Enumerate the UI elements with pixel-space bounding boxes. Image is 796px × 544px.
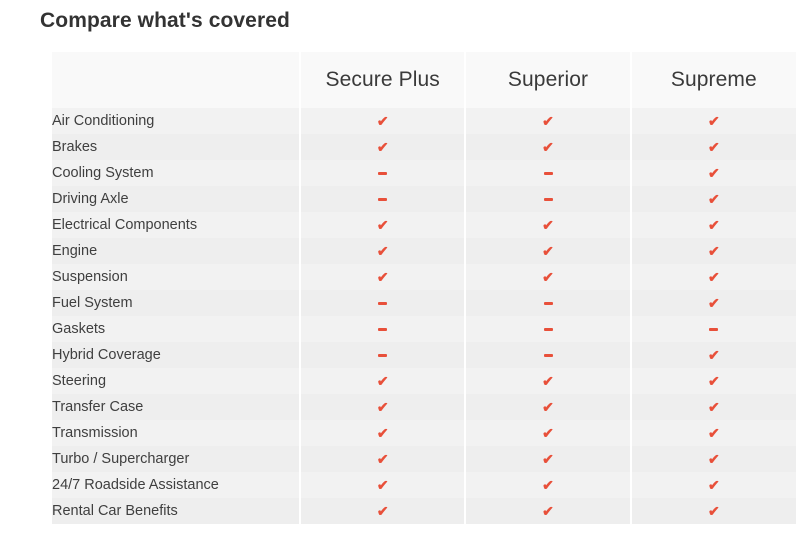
table-row: Transmission✔✔✔ [52,420,796,446]
check-icon: ✔ [708,114,720,128]
table-row: Turbo / Supercharger✔✔✔ [52,446,796,472]
check-icon: ✔ [542,452,554,466]
check-icon: ✔ [377,426,389,440]
feature-label: Suspension [52,264,300,290]
check-icon: ✔ [542,478,554,492]
check-icon: ✔ [377,504,389,518]
coverage-cell: ✔ [465,212,630,238]
dash-icon [378,172,387,175]
table-row: Hybrid Coverage✔ [52,342,796,368]
check-icon: ✔ [708,426,720,440]
coverage-cell: ✔ [465,108,630,134]
feature-label: Cooling System [52,160,300,186]
table-row: Transfer Case✔✔✔ [52,394,796,420]
coverage-cell [300,290,465,316]
feature-label: Hybrid Coverage [52,342,300,368]
coverage-cell: ✔ [631,368,796,394]
feature-label: Fuel System [52,290,300,316]
dash-icon [544,172,553,175]
coverage-cell: ✔ [631,134,796,160]
coverage-cell: ✔ [465,498,630,524]
check-icon: ✔ [377,374,389,388]
check-icon: ✔ [708,374,720,388]
check-icon: ✔ [377,452,389,466]
check-icon: ✔ [708,296,720,310]
coverage-cell: ✔ [631,160,796,186]
check-icon: ✔ [542,426,554,440]
table-header: Secure Plus Superior Supreme [52,52,796,108]
feature-label: Transfer Case [52,394,300,420]
check-icon: ✔ [708,140,720,154]
check-icon: ✔ [708,270,720,284]
check-icon: ✔ [542,244,554,258]
coverage-cell: ✔ [300,394,465,420]
coverage-cell: ✔ [300,238,465,264]
coverage-cell: ✔ [300,108,465,134]
check-icon: ✔ [542,270,554,284]
plan-header-secure-plus[interactable]: Secure Plus [300,52,465,108]
table-row: Rental Car Benefits✔✔✔ [52,498,796,524]
check-icon: ✔ [377,114,389,128]
coverage-cell: ✔ [631,394,796,420]
table-row: Air Conditioning✔✔✔ [52,108,796,134]
dash-icon [544,302,553,305]
table-row: Driving Axle✔ [52,186,796,212]
coverage-cell: ✔ [300,368,465,394]
coverage-cell: ✔ [300,446,465,472]
table-row: Cooling System✔ [52,160,796,186]
check-icon: ✔ [542,140,554,154]
coverage-cell: ✔ [300,420,465,446]
coverage-cell: ✔ [465,446,630,472]
feature-label: Brakes [52,134,300,160]
plan-header-superior[interactable]: Superior [465,52,630,108]
feature-label: 24/7 Roadside Assistance [52,472,300,498]
coverage-cell: ✔ [465,264,630,290]
coverage-cell [631,316,796,342]
coverage-comparison-table: Secure Plus Superior Supreme Air Conditi… [52,52,796,524]
compare-coverage-page: Compare what's covered Secure Plus Super… [0,0,796,544]
coverage-cell: ✔ [631,212,796,238]
table-body: Air Conditioning✔✔✔Brakes✔✔✔Cooling Syst… [52,108,796,524]
feature-label: Air Conditioning [52,108,300,134]
coverage-cell: ✔ [465,368,630,394]
coverage-cell: ✔ [300,472,465,498]
coverage-cell: ✔ [465,238,630,264]
check-icon: ✔ [708,504,720,518]
check-icon: ✔ [542,374,554,388]
coverage-cell [465,160,630,186]
coverage-cell: ✔ [631,238,796,264]
coverage-cell: ✔ [631,290,796,316]
dash-icon [544,198,553,201]
feature-label: Gaskets [52,316,300,342]
coverage-cell [465,342,630,368]
table-row: Engine✔✔✔ [52,238,796,264]
dash-icon [378,328,387,331]
coverage-cell: ✔ [631,446,796,472]
feature-label: Turbo / Supercharger [52,446,300,472]
check-icon: ✔ [542,504,554,518]
coverage-cell [300,342,465,368]
coverage-cell [300,160,465,186]
feature-label: Transmission [52,420,300,446]
coverage-cell: ✔ [465,394,630,420]
coverage-cell: ✔ [631,108,796,134]
coverage-cell: ✔ [300,134,465,160]
coverage-cell: ✔ [300,498,465,524]
table-row: Brakes✔✔✔ [52,134,796,160]
table-row: 24/7 Roadside Assistance✔✔✔ [52,472,796,498]
coverage-cell: ✔ [465,420,630,446]
check-icon: ✔ [377,218,389,232]
coverage-cell: ✔ [631,342,796,368]
check-icon: ✔ [708,244,720,258]
dash-icon [378,198,387,201]
table-row: Steering✔✔✔ [52,368,796,394]
coverage-cell [465,316,630,342]
check-icon: ✔ [377,478,389,492]
coverage-cell: ✔ [300,264,465,290]
check-icon: ✔ [542,218,554,232]
check-icon: ✔ [377,270,389,284]
check-icon: ✔ [542,114,554,128]
check-icon: ✔ [708,192,720,206]
coverage-cell [465,186,630,212]
check-icon: ✔ [708,348,720,362]
feature-label: Rental Car Benefits [52,498,300,524]
header-row: Secure Plus Superior Supreme [52,52,796,108]
feature-label: Steering [52,368,300,394]
coverage-cell [465,290,630,316]
check-icon: ✔ [708,478,720,492]
check-icon: ✔ [377,244,389,258]
table-row: Gaskets [52,316,796,342]
table-row: Suspension✔✔✔ [52,264,796,290]
dash-icon [709,328,718,331]
coverage-cell: ✔ [631,186,796,212]
table-row: Electrical Components✔✔✔ [52,212,796,238]
coverage-cell: ✔ [465,134,630,160]
compare-table-container: Secure Plus Superior Supreme Air Conditi… [52,52,796,524]
coverage-cell: ✔ [631,472,796,498]
check-icon: ✔ [377,140,389,154]
check-icon: ✔ [542,400,554,414]
dash-icon [378,354,387,357]
coverage-cell [300,316,465,342]
coverage-cell: ✔ [300,212,465,238]
plan-header-supreme[interactable]: Supreme [631,52,796,108]
check-icon: ✔ [708,166,720,180]
dash-icon [378,302,387,305]
check-icon: ✔ [708,452,720,466]
coverage-cell: ✔ [631,264,796,290]
feature-label: Driving Axle [52,186,300,212]
coverage-cell: ✔ [631,420,796,446]
table-row: Fuel System✔ [52,290,796,316]
feature-column-header [52,52,300,108]
coverage-cell: ✔ [631,498,796,524]
page-title: Compare what's covered [40,9,290,33]
feature-label: Engine [52,238,300,264]
check-icon: ✔ [708,218,720,232]
coverage-cell: ✔ [465,472,630,498]
dash-icon [544,354,553,357]
feature-label: Electrical Components [52,212,300,238]
check-icon: ✔ [708,400,720,414]
dash-icon [544,328,553,331]
check-icon: ✔ [377,400,389,414]
coverage-cell [300,186,465,212]
